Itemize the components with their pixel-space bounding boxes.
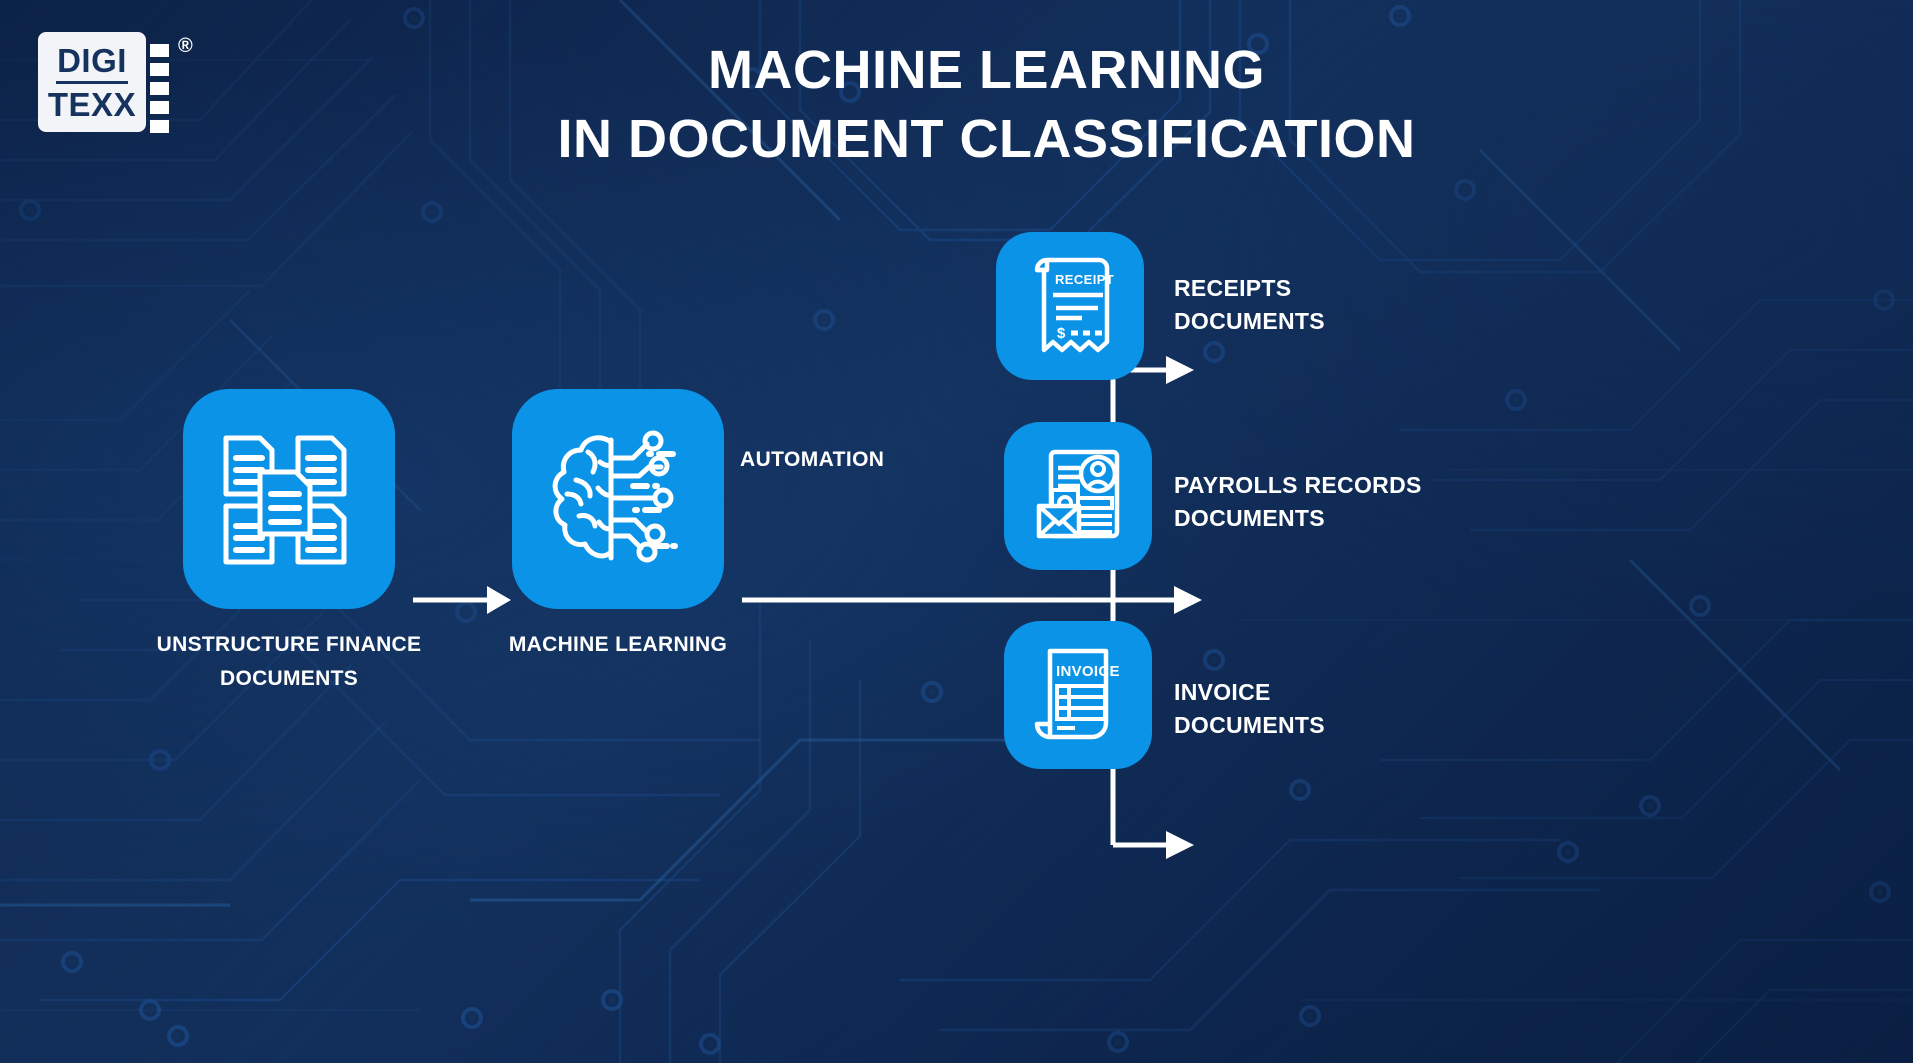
tile-invoice-documents[interactable]: INVOICE (1004, 621, 1152, 769)
documents-stack-icon (214, 424, 364, 574)
invoice-icon: INVOICE (1028, 643, 1128, 747)
label-line-2: DOCUMENTS (1174, 505, 1325, 531)
label-line-1: INVOICE (1174, 679, 1271, 705)
brain-circuit-icon (543, 424, 693, 574)
label-payrolls-records-documents: PAYROLLS RECORDS DOCUMENTS (1174, 469, 1634, 534)
label-line-1: RECEIPTS (1174, 275, 1291, 301)
caption-unstructured-documents: UNSTRUCTURE FINANCE DOCUMENTS (110, 628, 468, 695)
title-line-1: MACHINE LEARNING (60, 36, 1913, 105)
receipt-icon: RECEIPT $ (1021, 254, 1119, 358)
caption-line-1: MACHINE LEARNING (509, 633, 727, 656)
label-receipts-documents: RECEIPTS DOCUMENTS (1174, 272, 1604, 337)
automation-label: AUTOMATION (740, 448, 884, 472)
infographic-canvas: DIGI TEXX ® MACHINE LEARNING IN DOCUMENT… (0, 0, 1913, 1063)
label-line-2: DOCUMENTS (1174, 308, 1325, 334)
receipt-title-text: RECEIPT (1055, 272, 1114, 287)
label-line-2: DOCUMENTS (1174, 712, 1325, 738)
tile-receipts-documents[interactable]: RECEIPT $ (996, 232, 1144, 380)
caption-line-2: DOCUMENTS (220, 667, 358, 690)
invoice-title-text: INVOICE (1056, 663, 1120, 680)
caption-line-1: UNSTRUCTURE FINANCE (157, 633, 422, 656)
page-title: MACHINE LEARNING IN DOCUMENT CLASSIFICAT… (0, 36, 1913, 174)
tile-machine-learning[interactable] (512, 389, 724, 609)
title-line-2: IN DOCUMENT CLASSIFICATION (60, 105, 1913, 174)
tile-unstructured-documents[interactable] (183, 389, 395, 609)
tile-payrolls-records-documents[interactable] (1004, 422, 1152, 570)
label-line-1: PAYROLLS RECORDS (1174, 472, 1422, 498)
payroll-record-icon (1028, 446, 1128, 546)
label-invoice-documents: INVOICE DOCUMENTS (1174, 676, 1604, 741)
receipt-amount-symbol: $ (1057, 325, 1066, 342)
caption-machine-learning: MACHINE LEARNING (460, 628, 776, 662)
